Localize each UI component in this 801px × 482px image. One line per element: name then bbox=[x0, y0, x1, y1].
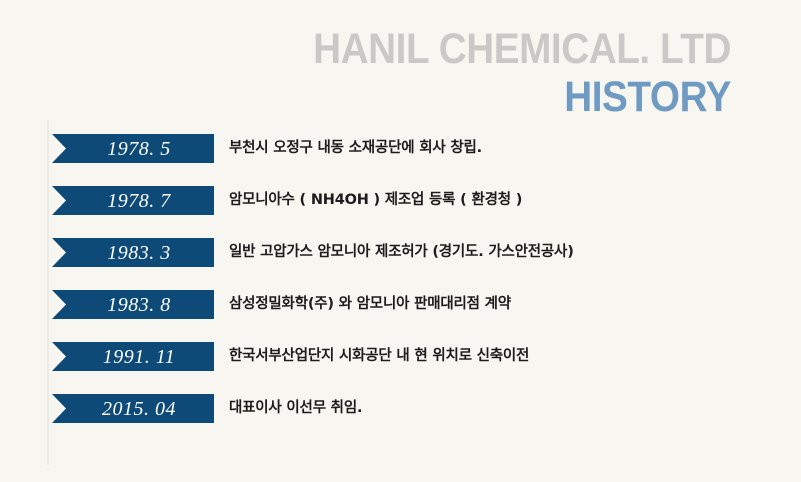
timeline-date-badge[interactable]: 1978. 5 bbox=[52, 134, 214, 163]
timeline-row: 1991. 11한국서부산업단지 시화공단 내 현 위치로 신축이전 bbox=[0, 342, 801, 394]
timeline: 1978. 5부천시 오정구 내동 소재공단에 회사 창립.1978. 7암모니… bbox=[0, 120, 801, 470]
timeline-date-label: 1978. 7 bbox=[107, 191, 171, 211]
timeline-description: 대표이사 이선무 취임. bbox=[229, 394, 362, 423]
timeline-row: 1983. 8삼성정밀화학(주) 와 암모니아 판매대리점 계약 bbox=[0, 290, 801, 342]
timeline-date-badge[interactable]: 1983. 3 bbox=[52, 238, 214, 267]
timeline-date-label: 1991. 11 bbox=[103, 347, 176, 367]
timeline-row: 2015. 04대표이사 이선무 취임. bbox=[0, 394, 801, 446]
timeline-row: 1978. 5부천시 오정구 내동 소재공단에 회사 창립. bbox=[0, 134, 801, 186]
timeline-description: 한국서부산업단지 시화공단 내 현 위치로 신축이전 bbox=[229, 342, 529, 371]
timeline-date-badge[interactable]: 1991. 11 bbox=[52, 342, 214, 371]
page-header: HANIL CHEMICAL. LTD HISTORY bbox=[0, 26, 731, 120]
timeline-description: 부천시 오정구 내동 소재공단에 회사 창립. bbox=[229, 134, 482, 163]
timeline-date-label: 2015. 04 bbox=[102, 399, 176, 419]
page-title-history: HISTORY bbox=[73, 74, 731, 120]
timeline-date-label: 1978. 5 bbox=[107, 139, 171, 159]
history-page: HANIL CHEMICAL. LTD HISTORY 1978. 5부천시 오… bbox=[0, 0, 801, 482]
timeline-description: 일반 고압가스 암모니아 제조허가 (경기도. 가스안전공사) bbox=[229, 238, 574, 267]
timeline-description: 삼성정밀화학(주) 와 암모니아 판매대리점 계약 bbox=[229, 290, 511, 319]
timeline-date-badge[interactable]: 1978. 7 bbox=[52, 186, 214, 215]
timeline-date-label: 1983. 8 bbox=[107, 295, 171, 315]
timeline-row: 1978. 7암모니아수 ( NH4OH ) 제조업 등록 ( 환경청 ) bbox=[0, 186, 801, 238]
timeline-row: 1983. 3일반 고압가스 암모니아 제조허가 (경기도. 가스안전공사) bbox=[0, 238, 801, 290]
timeline-date-badge[interactable]: 2015. 04 bbox=[52, 394, 214, 423]
timeline-description: 암모니아수 ( NH4OH ) 제조업 등록 ( 환경청 ) bbox=[229, 186, 522, 215]
timeline-date-label: 1983. 3 bbox=[107, 243, 171, 263]
timeline-rows: 1978. 5부천시 오정구 내동 소재공단에 회사 창립.1978. 7암모니… bbox=[0, 134, 801, 446]
timeline-date-badge[interactable]: 1983. 8 bbox=[52, 290, 214, 319]
page-title-company: HANIL CHEMICAL. LTD bbox=[73, 26, 731, 72]
